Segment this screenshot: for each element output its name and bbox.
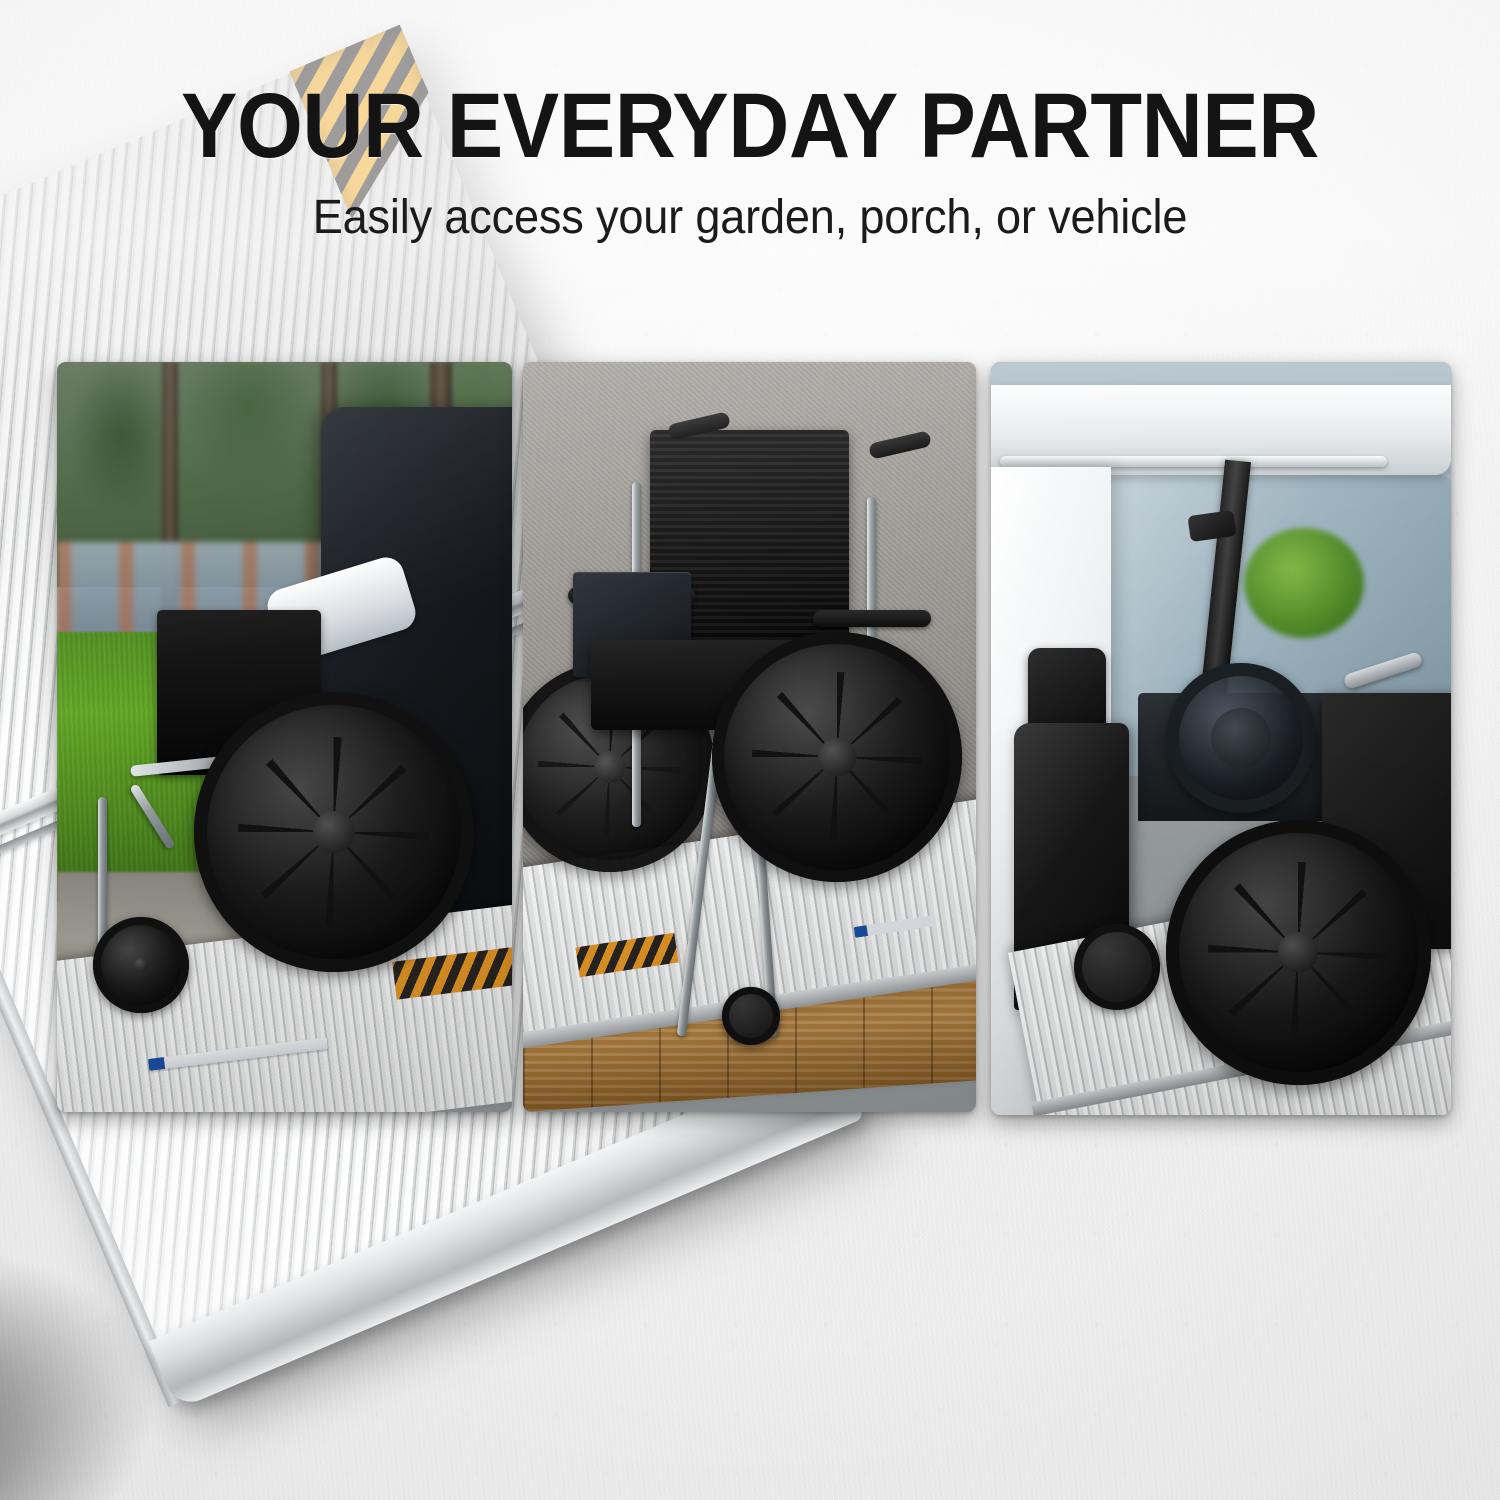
page-subtitle: Easily access your garden, porch, or veh… xyxy=(45,170,1455,243)
armrest-right xyxy=(813,610,931,627)
wheelchair-caster-wheel xyxy=(93,917,189,1013)
panel-3-image xyxy=(991,362,1451,1115)
wheelchair-right-wheel xyxy=(712,632,962,882)
panel-1-image xyxy=(57,362,512,1112)
wheelchair-front-post xyxy=(98,797,107,947)
wheelchair-caster-wheel xyxy=(722,987,780,1045)
wheelchair-rear-wheel xyxy=(1166,820,1431,1085)
wheelchair-caster-wheel xyxy=(1074,924,1160,1010)
steering-wheel xyxy=(1166,663,1316,813)
wheel-hub xyxy=(594,751,626,783)
tree-through-windshield xyxy=(1244,528,1364,638)
photo-panel-wheelchair-park xyxy=(57,362,512,1112)
wheel-hub xyxy=(819,738,857,776)
wheel-hub xyxy=(1278,933,1318,973)
wheelchair-rear-wheel xyxy=(194,692,474,972)
photo-panel-wheelchair-van xyxy=(991,362,1451,1115)
header: YOUR EVERYDAY PARTNER Easily access your… xyxy=(0,0,1500,244)
photo-panel-wheelchair-deck xyxy=(523,362,976,1112)
wheel-hub xyxy=(313,811,355,853)
van-roof-rail xyxy=(1000,456,1386,467)
caster-hub xyxy=(134,958,148,972)
page-title: YOUR EVERYDAY PARTNER xyxy=(60,0,1440,170)
promo-banner: YOUR EVERYDAY PARTNER Easily access your… xyxy=(0,0,1500,1500)
panel-2-image xyxy=(523,362,976,1112)
